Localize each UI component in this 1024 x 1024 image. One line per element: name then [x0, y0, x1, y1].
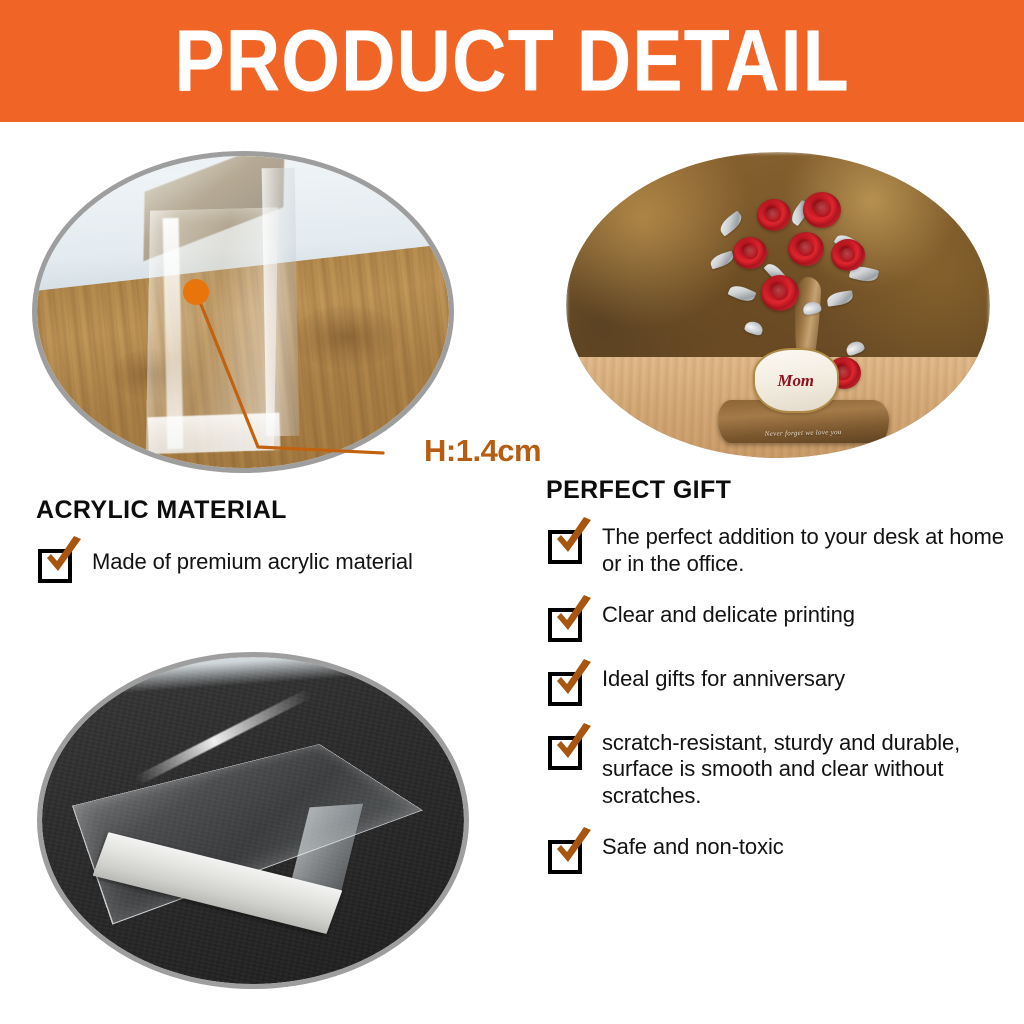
red-rose	[831, 239, 865, 271]
dimension-label: H:1.4cm	[424, 433, 541, 469]
list-item-label: Safe and non-toxic	[602, 834, 784, 861]
checkmark-icon	[550, 659, 596, 705]
checkmark-icon	[550, 595, 596, 641]
list-item: scratch-resistant, sturdy and durable, s…	[548, 730, 1010, 810]
red-rose	[803, 192, 841, 228]
red-rose	[733, 237, 767, 269]
list-item: Made of premium acrylic material	[38, 543, 508, 583]
list-item-label: scratch-resistant, sturdy and durable, s…	[602, 730, 1010, 810]
photo-acrylic-edge-on-wood	[37, 156, 449, 468]
silver-butterfly	[743, 320, 764, 337]
feature-list-acrylic-material: Made of premium acrylic material	[38, 543, 508, 583]
wood-knot	[292, 306, 399, 368]
list-item-label: Ideal gifts for anniversary	[602, 666, 845, 693]
checkbox-checked-icon	[38, 545, 76, 583]
checkbox-checked-icon	[548, 604, 586, 642]
silver-leaf	[728, 282, 757, 304]
photo-acrylic-edge-inner	[37, 156, 449, 468]
photo-acrylic-block-inner	[42, 657, 464, 984]
checkmark-icon	[550, 723, 596, 769]
feature-list-perfect-gift: The perfect addition to your desk at hom…	[548, 524, 1010, 898]
red-rose	[788, 232, 824, 266]
silver-leaf	[709, 251, 736, 270]
heading-acrylic-material: ACRYLIC MATERIAL	[36, 496, 287, 525]
list-item: Clear and delicate printing	[548, 602, 1010, 642]
silver-butterfly	[845, 339, 866, 357]
heading-perfect-gift: PERFECT GIFT	[546, 476, 731, 505]
checkbox-checked-icon	[548, 836, 586, 874]
silver-leaf	[826, 290, 854, 306]
checkbox-checked-icon	[548, 526, 586, 564]
red-rose	[761, 275, 799, 311]
checkmark-icon	[550, 827, 596, 873]
list-item-label: Clear and delicate printing	[602, 602, 855, 629]
acrylic-slab-back-edge	[261, 168, 299, 437]
plaque-text: Mom	[778, 372, 814, 389]
list-item: Safe and non-toxic	[548, 834, 1010, 874]
header-banner: PRODUCT DETAIL	[0, 0, 1024, 122]
rose-ornament-figurine: Mom Never forget we love you	[706, 192, 901, 443]
acrylic-slab-foot	[148, 413, 281, 455]
red-rose	[757, 199, 791, 231]
photo-rose-ornament: Mom Never forget we love you	[566, 152, 990, 458]
mom-plaque: Mom	[753, 348, 839, 412]
list-item-label: Made of premium acrylic material	[92, 543, 413, 576]
list-item: Ideal gifts for anniversary	[548, 666, 1010, 706]
product-detail-page: PRODUCT DETAIL	[0, 0, 1024, 1024]
checkbox-checked-icon	[548, 668, 586, 706]
photo-acrylic-block-on-slate	[42, 657, 464, 984]
silver-leaf	[716, 210, 744, 236]
list-item: The perfect addition to your desk at hom…	[548, 524, 1010, 578]
photo-rose-ornament-inner: Mom Never forget we love you	[566, 152, 990, 458]
list-item-label: The perfect addition to your desk at hom…	[602, 524, 1010, 578]
checkmark-icon	[40, 536, 86, 582]
page-title: PRODUCT DETAIL	[174, 17, 849, 104]
checkmark-icon	[550, 517, 596, 563]
checkbox-checked-icon	[548, 732, 586, 770]
